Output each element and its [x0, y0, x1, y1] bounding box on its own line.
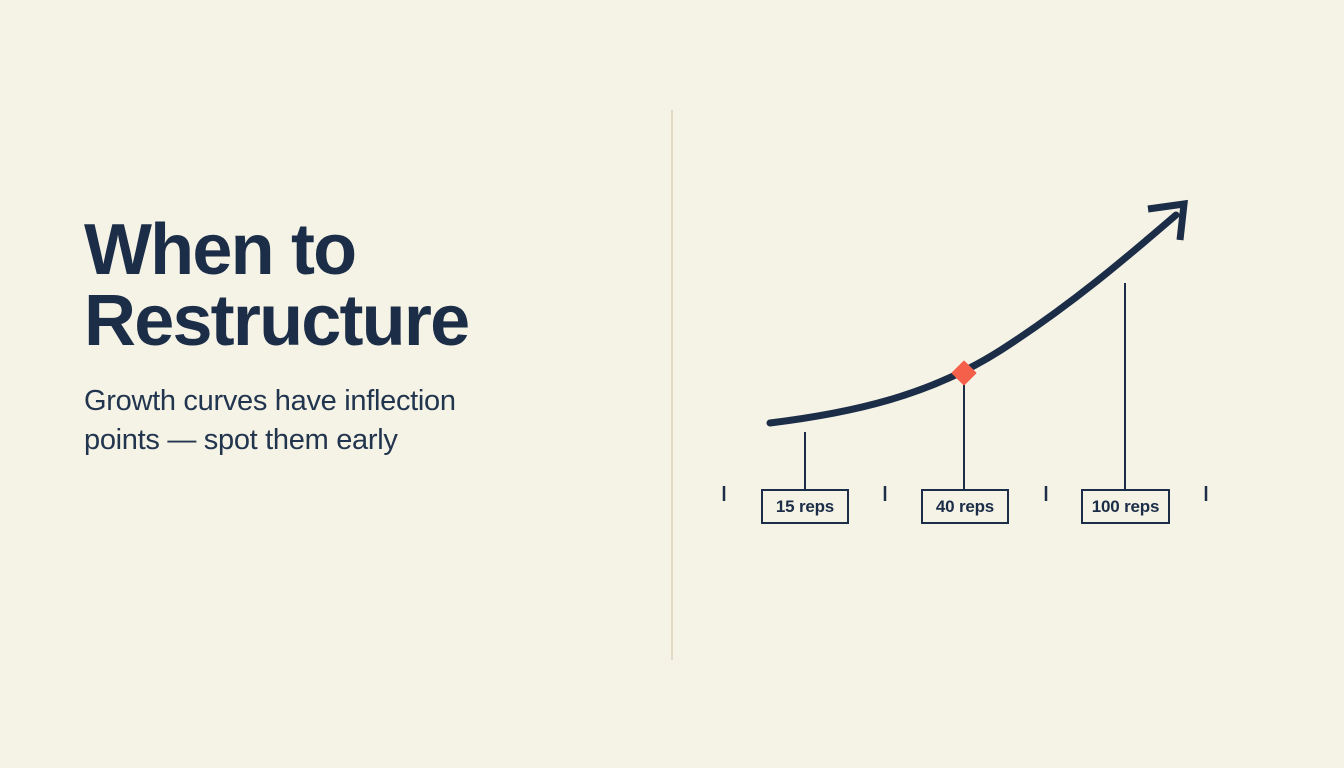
milestone-label-100-reps[interactable]: 100 reps [1081, 489, 1170, 524]
growth-curve-path [770, 215, 1176, 423]
growth-curve-svg [671, 0, 1344, 768]
page-title: When to Restructure [84, 215, 604, 358]
milestone-label-40-reps[interactable]: 40 reps [921, 489, 1009, 524]
title-block: When to Restructure Growth curves have i… [84, 215, 604, 461]
page-subtitle: Growth curves have inflection points — s… [84, 382, 604, 461]
slide-canvas: When to Restructure Growth curves have i… [0, 0, 1344, 768]
growth-chart: 15 reps 40 reps 100 reps [671, 0, 1344, 768]
milestone-label-15-reps[interactable]: 15 reps [761, 489, 849, 524]
